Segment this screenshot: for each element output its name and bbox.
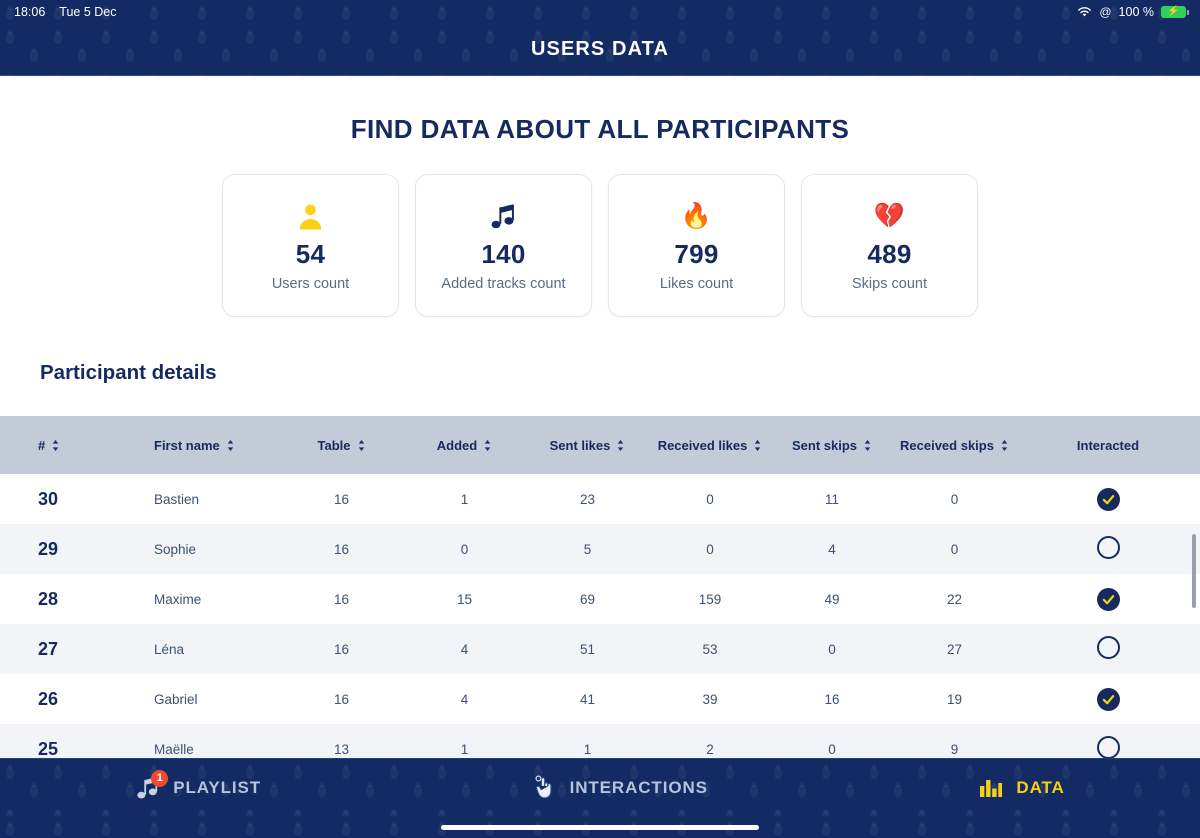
tab-data[interactable]: DATA: [968, 771, 1074, 805]
stat-label: Skips count: [852, 276, 927, 292]
cell-interacted: [1016, 724, 1200, 758]
cell-added: 0: [403, 524, 526, 574]
tab-label: DATA: [1016, 778, 1064, 798]
cell-added: 1: [403, 474, 526, 524]
stat-card-added-tracks[interactable]: 140 Added tracks count: [415, 174, 592, 317]
column-header-received-skips[interactable]: Received skips: [893, 416, 1016, 474]
interacted-check-icon: [1097, 488, 1120, 511]
cell-added: 1: [403, 724, 526, 758]
cell-index: 30: [0, 474, 58, 524]
column-label: Received skips: [900, 438, 994, 453]
sort-chevrons-icon: [616, 439, 625, 452]
participants-table: # First name Table Added Sent likes Rece…: [0, 416, 1200, 758]
cell-table: 16: [280, 624, 403, 674]
cell-sent-skips: 0: [771, 724, 893, 758]
user-icon: [298, 199, 323, 233]
table-row[interactable]: 27Léna1645153027: [0, 624, 1200, 674]
cell-interacted: [1016, 574, 1200, 624]
table-header-row: # First name Table Added Sent likes Rece…: [0, 416, 1200, 474]
cell-sent-likes: 23: [526, 474, 649, 524]
tab-label: INTERACTIONS: [570, 778, 708, 798]
sort-chevrons-icon: [1000, 439, 1009, 452]
cell-index: 28: [0, 574, 58, 624]
column-label: Table: [318, 438, 351, 453]
cell-interacted: [1016, 524, 1200, 574]
column-header-received-likes[interactable]: Received likes: [649, 416, 771, 474]
column-header-index[interactable]: #: [0, 416, 58, 474]
stat-value: 140: [481, 239, 525, 270]
cell-received-skips: 22: [893, 574, 1016, 624]
table-row[interactable]: 29Sophie1605040: [0, 524, 1200, 574]
sort-chevrons-icon: [863, 439, 872, 452]
column-header-sent-skips[interactable]: Sent skips: [771, 416, 893, 474]
table-row[interactable]: 28Maxime1615691594922: [0, 574, 1200, 624]
status-bar-right: @ 100 % ⚡: [1077, 5, 1186, 19]
column-header-added[interactable]: Added: [403, 416, 526, 474]
cell-received-likes: 2: [649, 724, 771, 758]
bar-chart-icon: [978, 775, 1004, 801]
bottom-tab-bar: 1 PLAYLIST INTERACTIONS DATA: [0, 758, 1200, 816]
column-label: Interacted: [1077, 438, 1139, 453]
stat-card-skips[interactable]: 💔 489 Skips count: [801, 174, 978, 317]
home-indicator-area: [0, 816, 1200, 838]
cell-index: 25: [0, 724, 58, 758]
stat-value: 54: [296, 239, 326, 270]
cell-sent-skips: 49: [771, 574, 893, 624]
tab-label: PLAYLIST: [173, 778, 261, 798]
column-label: Sent likes: [550, 438, 611, 453]
cell-sent-likes: 1: [526, 724, 649, 758]
cell-sent-skips: 0: [771, 624, 893, 674]
stat-label: Users count: [272, 276, 349, 292]
cell-first-name: Maxime: [58, 574, 280, 624]
sort-chevrons-icon: [226, 439, 235, 452]
column-label: Received likes: [658, 438, 748, 453]
cell-first-name: Sophie: [58, 524, 280, 574]
cell-added: 4: [403, 674, 526, 724]
tab-interactions[interactable]: INTERACTIONS: [522, 771, 718, 805]
music-note-icon: [491, 199, 516, 233]
cell-sent-likes: 41: [526, 674, 649, 724]
wifi-icon: [1077, 6, 1092, 18]
cell-sent-skips: 11: [771, 474, 893, 524]
table-row[interactable]: 30Bastien161230110: [0, 474, 1200, 524]
stat-label: Added tracks count: [441, 276, 565, 292]
cell-received-skips: 19: [893, 674, 1016, 724]
sort-chevrons-icon: [753, 439, 762, 452]
fire-icon: 🔥: [681, 199, 712, 233]
tab-playlist[interactable]: 1 PLAYLIST: [125, 771, 271, 805]
page-header-title: USERS DATA: [531, 38, 669, 61]
interacted-empty-icon: [1097, 736, 1120, 758]
location-icon: @: [1099, 5, 1111, 19]
cell-table: 16: [280, 524, 403, 574]
column-header-table[interactable]: Table: [280, 416, 403, 474]
stat-cards: 54 Users count 140 Added tracks count 🔥 …: [0, 174, 1200, 317]
home-indicator[interactable]: [441, 825, 759, 830]
cell-index: 29: [0, 524, 58, 574]
section-title: Participant details: [40, 361, 1200, 385]
column-label: Sent skips: [792, 438, 857, 453]
column-header-first-name[interactable]: First name: [58, 416, 280, 474]
column-label: First name: [154, 438, 220, 453]
playlist-badge: 1: [151, 770, 168, 787]
cell-received-likes: 0: [649, 524, 771, 574]
cell-first-name: Gabriel: [58, 674, 280, 724]
interacted-check-icon: [1097, 588, 1120, 611]
interacted-check-icon: [1097, 688, 1120, 711]
vertical-scrollbar[interactable]: [1192, 534, 1196, 608]
participants-table-wrapper: # First name Table Added Sent likes Rece…: [0, 416, 1200, 758]
sort-chevrons-icon: [483, 439, 492, 452]
column-label: #: [38, 438, 45, 453]
cell-received-skips: 0: [893, 524, 1016, 574]
page-title: FIND DATA ABOUT ALL PARTICIPANTS: [0, 114, 1200, 145]
cell-sent-likes: 51: [526, 624, 649, 674]
broken-heart-icon: 💔: [874, 199, 905, 233]
cell-index: 27: [0, 624, 58, 674]
cell-interacted: [1016, 474, 1200, 524]
table-row[interactable]: 26Gabriel16441391619: [0, 674, 1200, 724]
status-date: Tue 5 Dec: [59, 5, 116, 19]
cell-received-likes: 0: [649, 474, 771, 524]
cell-interacted: [1016, 624, 1200, 674]
cell-received-skips: 0: [893, 474, 1016, 524]
status-bar: 18:06 Tue 5 Dec @ 100 % ⚡: [0, 0, 1200, 24]
cell-received-skips: 27: [893, 624, 1016, 674]
sort-chevrons-icon: [51, 439, 60, 452]
stat-card-likes[interactable]: 🔥 799 Likes count: [608, 174, 785, 317]
cell-added: 15: [403, 574, 526, 624]
table-head: # First name Table Added Sent likes Rece…: [0, 416, 1200, 474]
table-body: 30Bastien16123011029Sophie160504028Maxim…: [0, 474, 1200, 758]
cell-table: 16: [280, 574, 403, 624]
cell-first-name: Bastien: [58, 474, 280, 524]
main-content: FIND DATA ABOUT ALL PARTICIPANTS 54 User…: [0, 76, 1200, 758]
column-header-interacted: Interacted: [1016, 416, 1200, 474]
cell-sent-skips: 16: [771, 674, 893, 724]
cell-received-likes: 159: [649, 574, 771, 624]
cell-sent-likes: 5: [526, 524, 649, 574]
stat-label: Likes count: [660, 276, 733, 292]
stat-value: 799: [674, 239, 718, 270]
column-label: Added: [437, 438, 477, 453]
cell-index: 26: [0, 674, 58, 724]
table-row[interactable]: 25Maëlle1311209: [0, 724, 1200, 758]
cell-added: 4: [403, 624, 526, 674]
stat-value: 489: [867, 239, 911, 270]
interacted-empty-icon: [1097, 536, 1120, 559]
battery-percent: 100 %: [1119, 5, 1154, 19]
cell-table: 13: [280, 724, 403, 758]
app-header: USERS DATA: [0, 24, 1200, 76]
column-header-sent-likes[interactable]: Sent likes: [526, 416, 649, 474]
cell-first-name: Maëlle: [58, 724, 280, 758]
cell-sent-skips: 4: [771, 524, 893, 574]
cell-table: 16: [280, 674, 403, 724]
cell-first-name: Léna: [58, 624, 280, 674]
status-bar-left: 18:06 Tue 5 Dec: [14, 5, 116, 19]
cell-received-skips: 9: [893, 724, 1016, 758]
cell-table: 16: [280, 474, 403, 524]
stat-card-users[interactable]: 54 Users count: [222, 174, 399, 317]
hand-pointer-icon: [532, 775, 558, 801]
cell-interacted: [1016, 674, 1200, 724]
music-note-icon: 1: [135, 775, 161, 801]
status-time: 18:06: [14, 5, 45, 19]
battery-charging-icon: ⚡: [1161, 6, 1186, 19]
interacted-empty-icon: [1097, 636, 1120, 659]
cell-sent-likes: 69: [526, 574, 649, 624]
cell-received-likes: 53: [649, 624, 771, 674]
cell-received-likes: 39: [649, 674, 771, 724]
app-root: 18:06 Tue 5 Dec @ 100 % ⚡ USERS DATA FIN…: [0, 0, 1200, 838]
sort-chevrons-icon: [357, 439, 366, 452]
